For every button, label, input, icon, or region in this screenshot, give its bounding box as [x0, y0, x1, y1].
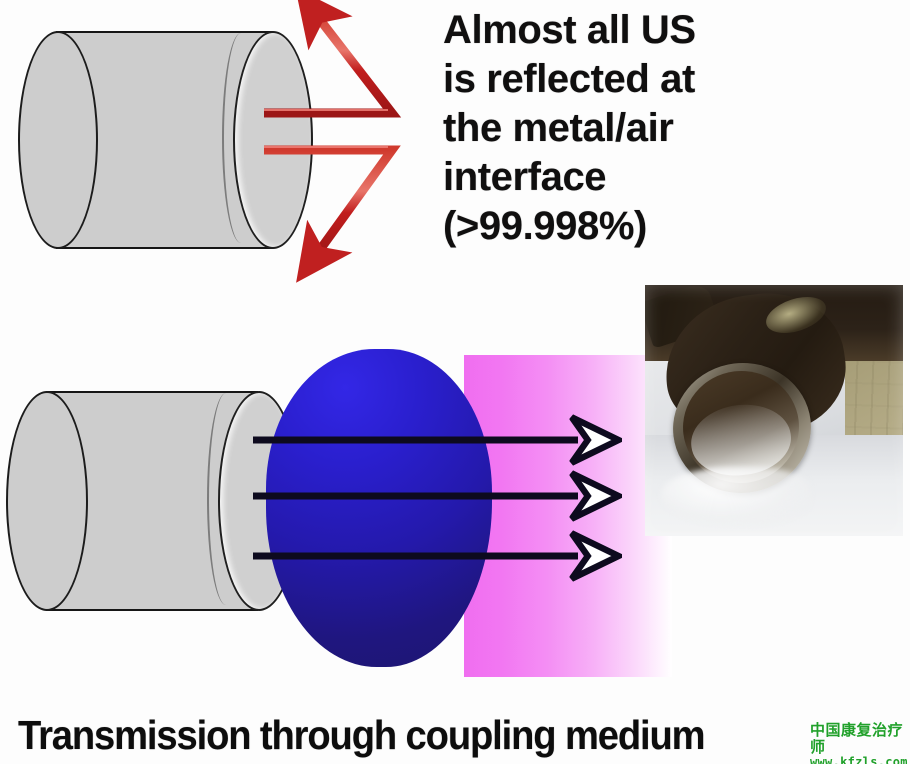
- headline-line-5: (>99.998%): [443, 202, 743, 251]
- cylinder-left-cap: [18, 31, 98, 249]
- headline-text: Almost all US is reflected at the metal/…: [443, 6, 743, 251]
- cylinder-left-cap: [6, 391, 88, 611]
- headline-line-2: is reflected at: [443, 55, 743, 104]
- watermark: 中国康复治疗师 www.kfzls.com: [810, 722, 910, 764]
- cylinder-seam-line: [222, 33, 260, 243]
- photo-vignette: [645, 285, 903, 536]
- transmission-field: [464, 355, 672, 677]
- headline-line-1: Almost all US: [443, 6, 743, 55]
- headline-line-4: interface: [443, 153, 743, 202]
- watermark-url: www.kfzls.com: [810, 756, 910, 764]
- watermark-chinese-text: 中国康复治疗师: [810, 722, 910, 756]
- caption-text: Transmission through coupling medium: [18, 712, 704, 758]
- cylinder-seam-line: [207, 393, 245, 605]
- coupling-gel-blob: [266, 349, 492, 667]
- transducer-on-skin-photo: [645, 285, 903, 536]
- headline-line-3: the metal/air: [443, 104, 743, 153]
- slide-canvas: Almost all US is reflected at the metal/…: [0, 0, 910, 764]
